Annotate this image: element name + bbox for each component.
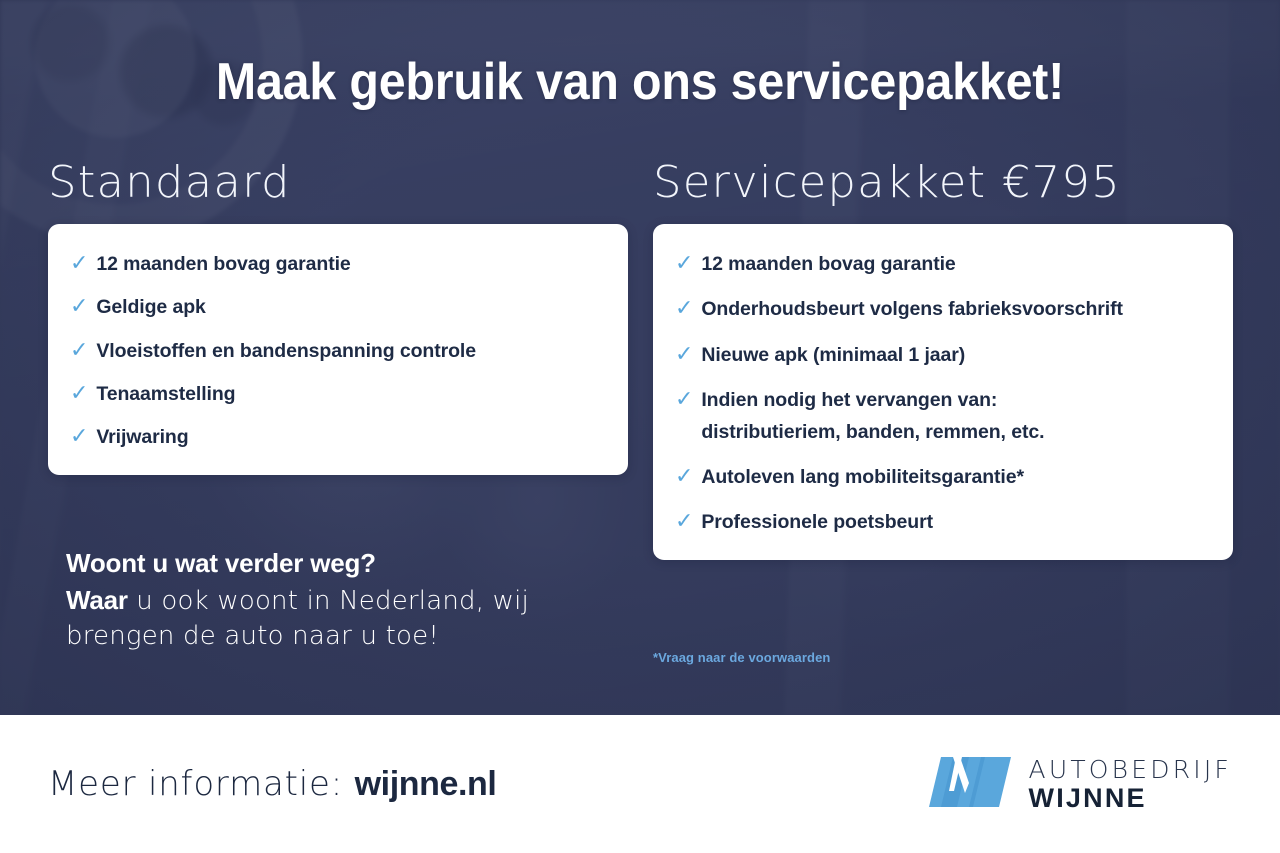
delivery-note: Woont u wat verder weg? Waar u ook woont…	[66, 548, 626, 654]
list-item: ✓ Geldige apk	[70, 295, 602, 319]
logo-line-autobedrijf: AUTOBEDRIJF	[1029, 757, 1232, 782]
conditions-footnote: *Vraag naar de voorwaarden	[653, 650, 830, 665]
feature-label: Nieuwe apk (minimaal 1 jaar)	[701, 343, 965, 367]
company-logo[interactable]: AUTOBEDRIJF WIJNNE	[929, 757, 1232, 812]
standard-column: Standaard ✓ 12 maanden bovag garantie ✓ …	[48, 160, 628, 475]
check-icon: ✓	[70, 295, 88, 319]
service-package-features-card: ✓ 12 maanden bovag garantie ✓ Onderhouds…	[653, 224, 1233, 560]
list-item: ✓ Indien nodig het vervangen van: distri…	[675, 388, 1207, 444]
standard-features-list: ✓ 12 maanden bovag garantie ✓ Geldige ap…	[70, 252, 602, 449]
w-logo-icon	[929, 757, 1011, 812]
check-icon: ✓	[675, 465, 693, 489]
more-info-label: Meer informatie:	[48, 764, 355, 804]
check-icon: ✓	[70, 425, 88, 449]
standard-features-card: ✓ 12 maanden bovag garantie ✓ Geldige ap…	[48, 224, 628, 475]
feature-label: Autoleven lang mobiliteitsgarantie*	[701, 465, 1024, 489]
list-item: ✓ Vloeistoffen en bandenspanning control…	[70, 339, 602, 363]
service-package-column: Servicepakket €795 ✓ 12 maanden bovag ga…	[653, 160, 1233, 560]
delivery-note-body: Waar u ook woont in Nederland, wij breng…	[66, 583, 626, 654]
check-icon: ✓	[675, 252, 693, 276]
check-icon: ✓	[675, 388, 693, 412]
feature-label: Tenaamstelling	[96, 382, 235, 406]
service-package-poster: Maak gebruik van ons servicepakket! Stan…	[0, 0, 1280, 853]
feature-label: Professionele poetsbeurt	[701, 510, 933, 534]
service-package-column-title: Servicepakket €795	[653, 160, 1245, 206]
logo-wordmark: AUTOBEDRIJF WIJNNE	[1029, 757, 1232, 812]
feature-label: Vrijwaring	[96, 425, 188, 449]
list-item: ✓ 12 maanden bovag garantie	[675, 252, 1207, 276]
standard-column-title: Standaard	[48, 160, 640, 206]
service-package-features-list: ✓ 12 maanden bovag garantie ✓ Onderhouds…	[675, 252, 1207, 534]
list-item: ✓ Professionele poetsbeurt	[675, 510, 1207, 534]
list-item: ✓ Autoleven lang mobiliteitsgarantie*	[675, 465, 1207, 489]
delivery-note-rest: u ook woont in Nederland, wij brengen de…	[66, 586, 529, 651]
logo-line-wijnne: WIJNNE	[1029, 785, 1232, 812]
footer-bar: Meer informatie: wijnne.nl	[0, 715, 1280, 853]
check-icon: ✓	[70, 252, 88, 276]
more-info-text: Meer informatie: wijnne.nl	[48, 764, 496, 804]
list-item: ✓ Nieuwe apk (minimaal 1 jaar)	[675, 343, 1207, 367]
check-icon: ✓	[70, 382, 88, 406]
delivery-note-emphasis: Waar	[66, 585, 128, 615]
feature-label: Geldige apk	[96, 295, 205, 319]
feature-sublabel: distributieriem, banden, remmen, etc.	[701, 420, 1044, 444]
check-icon: ✓	[675, 297, 693, 321]
check-icon: ✓	[70, 339, 88, 363]
feature-label: 12 maanden bovag garantie	[701, 252, 955, 276]
feature-label: Vloeistoffen en bandenspanning controle	[96, 339, 476, 363]
list-item: ✓ Onderhoudsbeurt volgens fabrieksvoorsc…	[675, 297, 1207, 321]
feature-label: Onderhoudsbeurt volgens fabrieksvoorschr…	[701, 297, 1123, 321]
list-item: ✓ 12 maanden bovag garantie	[70, 252, 602, 276]
page-title: Maak gebruik van ons servicepakket!	[45, 56, 1235, 108]
check-icon: ✓	[675, 343, 693, 367]
delivery-note-heading: Woont u wat verder weg?	[66, 548, 626, 579]
feature-label: 12 maanden bovag garantie	[96, 252, 350, 276]
feature-label: Indien nodig het vervangen van:	[701, 388, 1044, 412]
check-icon: ✓	[675, 510, 693, 534]
list-item: ✓ Tenaamstelling	[70, 382, 602, 406]
list-item: ✓ Vrijwaring	[70, 425, 602, 449]
website-link[interactable]: wijnne.nl	[355, 765, 497, 803]
